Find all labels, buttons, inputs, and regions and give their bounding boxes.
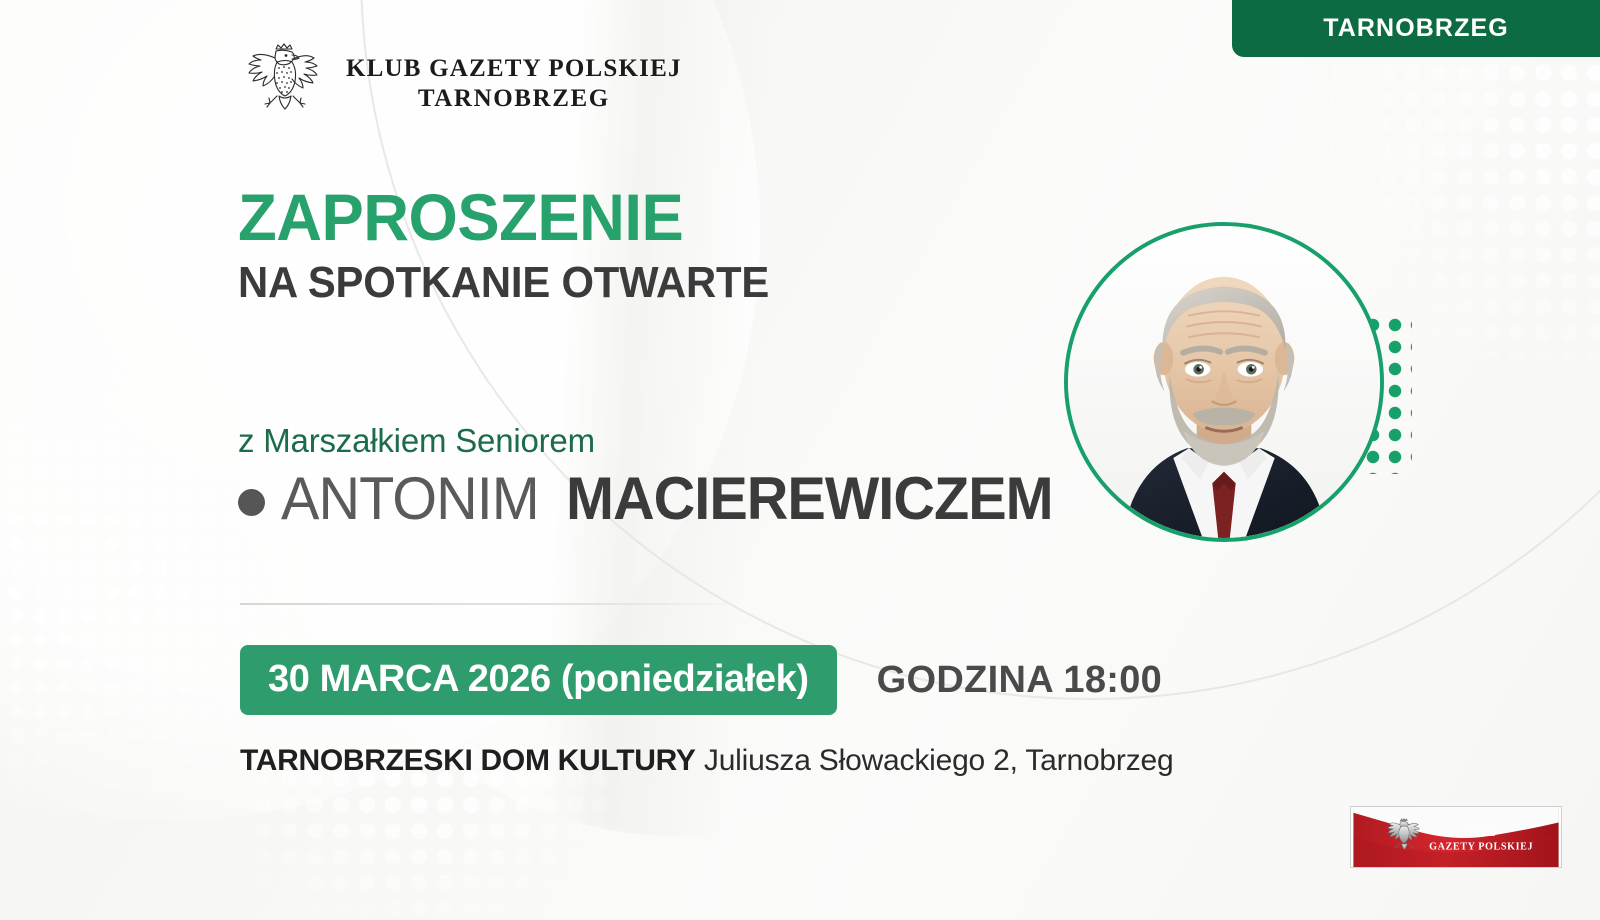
footer-logo: KLUB GAZETY POLSKIEJ: [1350, 806, 1562, 868]
header-logo-text: KLUB GAZETY POLSKIEJ TARNOBRZEG: [346, 54, 682, 115]
venue-address: Juliusza Słowackiego 2, Tarnobrzeg: [704, 744, 1174, 777]
avatar: [1064, 222, 1384, 542]
section-divider: [240, 603, 732, 605]
headline-block: ZAPROSZENIE NA SPOTKANIE OTWARTE: [238, 184, 797, 305]
page-subtitle: NA SPOTKANIE OTWARTE: [238, 261, 769, 305]
eagle-icon: [232, 34, 332, 134]
guest-last-name: MACIEREWICZEM: [566, 469, 1053, 529]
guest-first-name: ANTONIM: [281, 469, 539, 529]
invitation-poster: TARNOBRZEG: [0, 0, 1600, 920]
guest-name: ANTONIM MACIEREWICZEM: [238, 469, 1073, 529]
event-time: GODZINA 18:00: [877, 661, 1162, 699]
footer-logo-line-1: KLUB: [1466, 828, 1497, 839]
logo-line-1: KLUB GAZETY POLSKIEJ: [346, 54, 682, 85]
guest-role: z Marszałkiem Seniorem: [238, 424, 1073, 457]
page-title: ZAPROSZENIE: [238, 184, 775, 250]
city-badge: TARNOBRZEG: [1232, 0, 1600, 57]
logo-line-2: TARNOBRZEG: [346, 84, 682, 115]
bullet-dot-icon: [238, 489, 265, 516]
guest-portrait: [1064, 222, 1384, 542]
event-date-badge: 30 MARCA 2026 (poniedziałek): [240, 645, 837, 715]
guest-block: z Marszałkiem Seniorem ANTONIM MACIEREWI…: [238, 424, 1073, 529]
event-venue: TARNOBRZESKI DOM KULTURY Juliusza Słowac…: [240, 746, 1173, 776]
venue-name: TARNOBRZESKI DOM KULTURY: [240, 744, 696, 777]
header-logo: KLUB GAZETY POLSKIEJ TARNOBRZEG: [232, 34, 682, 134]
footer-logo-line-2: GAZETY POLSKIEJ: [1429, 842, 1533, 853]
city-badge-label: TARNOBRZEG: [1323, 14, 1509, 43]
event-datetime-row: 30 MARCA 2026 (poniedziałek) GODZINA 18:…: [240, 645, 1162, 715]
